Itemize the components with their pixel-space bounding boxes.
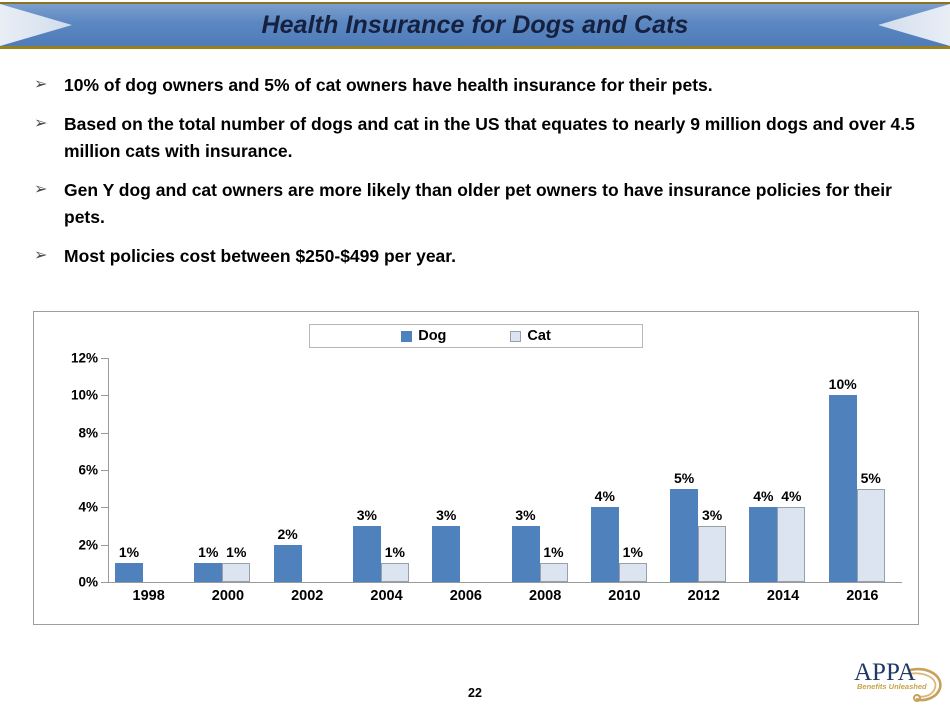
legend-swatch-cat-icon — [510, 331, 521, 342]
bullet-text: Gen Y dog and cat owners are more likely… — [64, 177, 924, 231]
bar-value-label: 5% — [662, 470, 706, 486]
bar-dog[interactable] — [274, 545, 302, 582]
plot-area: 1%1%1%2%3%1%3%3%1%4%1%5%3%4%4%10%5% — [109, 358, 902, 582]
bar-value-label: 10% — [821, 376, 865, 392]
y-axis-tick-label: 8% — [40, 425, 98, 440]
x-axis-tick-label: 2010 — [583, 588, 665, 604]
page-number: 22 — [0, 686, 950, 700]
bullet-text: Most policies cost between $250-$499 per… — [64, 243, 924, 270]
slide-title: Health Insurance for Dogs and Cats — [0, 4, 950, 46]
y-axis-tick-label: 10% — [40, 388, 98, 403]
bar-value-label: 1% — [532, 544, 576, 560]
y-axis-tick-mark — [101, 358, 108, 359]
bullet-text: 10% of dog owners and 5% of cat owners h… — [64, 72, 924, 99]
bullet-arrow-icon: ➢ — [34, 243, 64, 268]
x-axis-tick-label: 1998 — [108, 588, 190, 604]
bar-value-label: 3% — [690, 507, 734, 523]
bar-cat[interactable] — [857, 489, 885, 582]
bullet-arrow-icon: ➢ — [34, 72, 64, 97]
x-axis-tick-label: 2012 — [663, 588, 745, 604]
bar-cat[interactable] — [540, 563, 568, 582]
bullet-list: ➢ 10% of dog owners and 5% of cat owners… — [34, 72, 924, 282]
bar-cat[interactable] — [777, 507, 805, 582]
legend-item-dog[interactable]: Dog — [401, 328, 446, 344]
bar-value-label: 3% — [504, 507, 548, 523]
bar-value-label: 3% — [345, 507, 389, 523]
bar-value-label: 1% — [373, 544, 417, 560]
bar-value-label: 1% — [107, 544, 151, 560]
y-axis-tick-label: 0% — [40, 575, 98, 590]
y-axis-tick-mark — [101, 433, 108, 434]
y-axis-tick-mark — [101, 470, 108, 471]
bar-group: 10%5% — [823, 358, 902, 582]
bar-group: 3% — [426, 358, 505, 582]
bar-group: 1% — [109, 358, 188, 582]
bar-group: 4%1% — [585, 358, 664, 582]
bar-cat[interactable] — [619, 563, 647, 582]
bar-group: 1%1% — [188, 358, 267, 582]
x-axis-tick-label: 2008 — [504, 588, 586, 604]
y-axis-tick-label: 2% — [40, 537, 98, 552]
bar-dog[interactable] — [749, 507, 777, 582]
title-banner: Health Insurance for Dogs and Cats — [0, 0, 950, 50]
y-axis-tick-label: 12% — [40, 351, 98, 366]
y-axis-tick-mark — [101, 582, 108, 583]
bar-dog[interactable] — [115, 563, 143, 582]
x-axis-tick-label: 2016 — [821, 588, 903, 604]
x-axis-labels: 1998200020022004200620082010201220142016 — [109, 588, 902, 618]
y-axis-tick-mark — [101, 545, 108, 546]
bar-dog[interactable] — [194, 563, 222, 582]
chart-legend: Dog Cat — [309, 324, 643, 348]
appa-logo: APPA Benefits Unleashed — [848, 650, 948, 706]
logo-tagline: Benefits Unleashed — [857, 682, 927, 691]
bar-value-label: 1% — [611, 544, 655, 560]
x-axis-tick-label: 2000 — [187, 588, 269, 604]
appa-logo-svg: APPA Benefits Unleashed — [848, 650, 948, 706]
bullet-arrow-icon: ➢ — [34, 111, 64, 136]
bar-value-label: 2% — [266, 526, 310, 542]
x-axis-line — [108, 582, 902, 583]
bullet-item: ➢ Based on the total number of dogs and … — [34, 111, 924, 165]
y-axis-tick-label: 6% — [40, 463, 98, 478]
x-axis-tick-label: 2014 — [742, 588, 824, 604]
bullet-item: ➢ 10% of dog owners and 5% of cat owners… — [34, 72, 924, 99]
x-axis-tick-label: 2002 — [266, 588, 348, 604]
legend-label-cat: Cat — [527, 328, 550, 344]
bar-group: 3%1% — [506, 358, 585, 582]
bar-value-label: 3% — [424, 507, 468, 523]
bar-value-label: 4% — [583, 488, 627, 504]
plot-wrapper: 12%10%8%6%4%2%0% 1%1%1%2%3%1%3%3%1%4%1%5… — [34, 358, 920, 626]
bar-cat[interactable] — [698, 526, 726, 582]
bar-cat[interactable] — [222, 563, 250, 582]
x-axis-tick-label: 2006 — [425, 588, 507, 604]
x-axis-tick-label: 2004 — [346, 588, 428, 604]
bar-value-label: 1% — [214, 544, 258, 560]
bar-value-label: 4% — [769, 488, 813, 504]
bar-dog[interactable] — [670, 489, 698, 582]
bar-group: 5%3% — [664, 358, 743, 582]
y-axis-tick-mark — [101, 395, 108, 396]
y-axis-labels: 12%10%8%6%4%2%0% — [40, 358, 98, 582]
bar-dog[interactable] — [432, 526, 460, 582]
bar-group: 2% — [268, 358, 347, 582]
y-axis-tick-mark — [101, 507, 108, 508]
legend-item-cat[interactable]: Cat — [510, 328, 550, 344]
legend-swatch-dog-icon — [401, 331, 412, 342]
bullet-arrow-icon: ➢ — [34, 177, 64, 202]
bar-group: 3%1% — [347, 358, 426, 582]
bar-chart: Dog Cat 12%10%8%6%4%2%0% 1%1%1%2%3%1%3%3… — [33, 311, 919, 625]
bar-dog[interactable] — [829, 395, 857, 582]
bar-group: 4%4% — [743, 358, 822, 582]
legend-label-dog: Dog — [418, 328, 446, 344]
y-axis-tick-label: 4% — [40, 500, 98, 515]
bar-value-label: 5% — [849, 470, 893, 486]
bullet-item: ➢ Gen Y dog and cat owners are more like… — [34, 177, 924, 231]
bullet-item: ➢ Most policies cost between $250-$499 p… — [34, 243, 924, 270]
bar-cat[interactable] — [381, 563, 409, 582]
bullet-text: Based on the total number of dogs and ca… — [64, 111, 924, 165]
banner-bottom-rule — [0, 46, 950, 49]
